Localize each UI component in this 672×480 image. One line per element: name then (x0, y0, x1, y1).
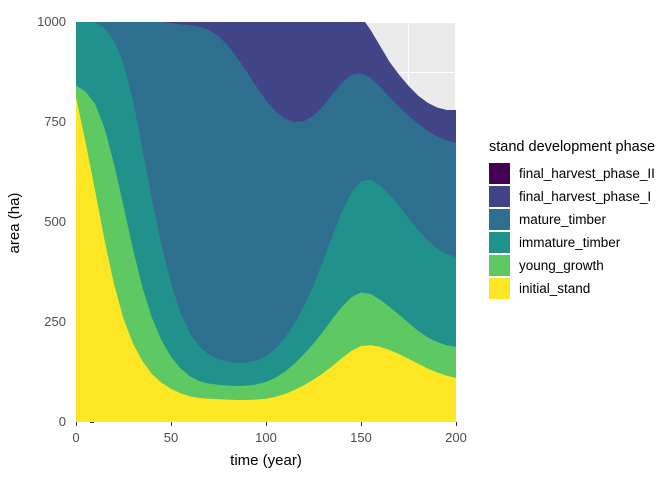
y-tick-label: 250 (24, 314, 66, 329)
x-tick-mark (456, 422, 457, 426)
legend-swatch-icon (489, 232, 510, 253)
legend-item-label: immature_timber (519, 235, 620, 250)
legend-item-final_harvest_phase_I[interactable]: final_harvest_phase_I (489, 185, 669, 208)
legend-item-young_growth[interactable]: young_growth (489, 254, 669, 277)
x-tick-mark (361, 422, 362, 426)
x-tick-label: 100 (236, 430, 296, 445)
legend-item-label: initial_stand (519, 281, 590, 296)
legend-item-immature_timber[interactable]: immature_timber (489, 231, 669, 254)
x-tick-label: 0 (46, 430, 106, 445)
legend-items: final_harvest_phase_IIfinal_harvest_phas… (489, 162, 669, 300)
legend-item-mature_timber[interactable]: mature_timber (489, 208, 669, 231)
legend: stand development phase final_harvest_ph… (489, 139, 669, 300)
legend-item-final_harvest_phase_II[interactable]: final_harvest_phase_II (489, 162, 669, 185)
stacked-area-plot (76, 22, 456, 422)
x-tick-mark (76, 422, 77, 426)
legend-item-initial_stand[interactable]: initial_stand (489, 277, 669, 300)
plot-panel (76, 22, 456, 422)
legend-swatch-icon (489, 255, 510, 276)
x-tick-label: 150 (331, 430, 391, 445)
legend-item-label: young_growth (519, 258, 604, 273)
y-axis-ticks: 02505007501000 (20, 0, 66, 480)
legend-swatch-icon (489, 186, 510, 207)
x-axis-title: time (year) (76, 452, 456, 469)
x-tick-mark (171, 422, 172, 426)
legend-swatch-icon (489, 209, 510, 230)
x-tick-mark (266, 422, 267, 426)
legend-item-label: final_harvest_phase_I (519, 189, 651, 204)
y-tick-label: 1000 (24, 14, 66, 29)
legend-item-label: mature_timber (519, 212, 606, 227)
y-tick-label: 500 (24, 214, 66, 229)
legend-swatch-icon (489, 163, 510, 184)
legend-swatch-icon (489, 278, 510, 299)
y-tick-label: 750 (24, 114, 66, 129)
legend-title: stand development phase (489, 139, 669, 155)
x-tick-label: 200 (426, 430, 486, 445)
x-tick-label: 50 (141, 430, 201, 445)
legend-item-label: final_harvest_phase_II (519, 166, 655, 181)
chart-root: area (ha) 02505007501000 050100150200 ti… (0, 0, 672, 480)
